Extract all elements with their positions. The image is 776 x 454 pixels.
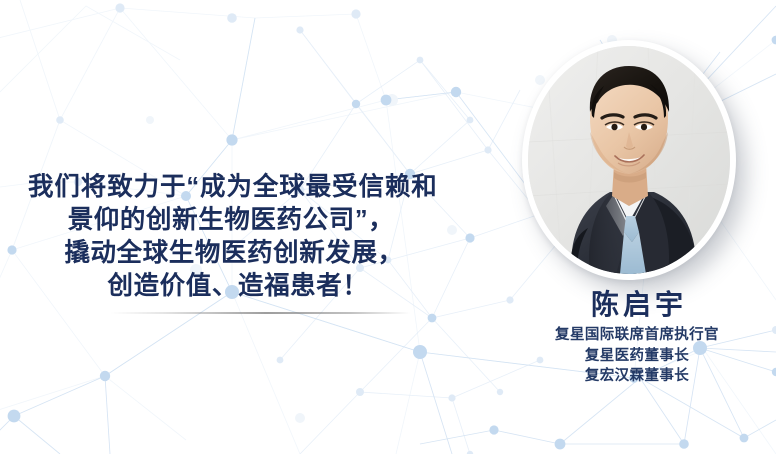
slide-canvas: .ln { stroke:#cfe0f2; stroke-width:0.85;… <box>0 0 776 454</box>
quote-block: 我们将致力于“成为全球最受信赖和 景仰的创新生物医药公司”， 撬动全球生物医药创… <box>0 171 482 303</box>
person-title-3: 复宏汉霖董事长 <box>498 366 776 387</box>
person-title-2: 复星医药董事长 <box>498 346 776 367</box>
section-divider <box>110 312 410 314</box>
quote-line-4: 创造价值、造福患者！ <box>0 270 482 303</box>
person-info: 陈启宇 复星国际联席首席执行官 复星医药董事长 复宏汉霖董事长 <box>498 288 776 387</box>
person-title-1: 复星国际联席首席执行官 <box>498 325 776 346</box>
quote-line-1: 我们将致力于“成为全球最受信赖和 <box>0 171 482 204</box>
quote-line-3: 撬动全球生物医药创新发展， <box>0 237 482 270</box>
portrait-photo <box>528 46 730 274</box>
person-titles: 复星国际联席首席执行官 复星医药董事长 复宏汉霖董事长 <box>498 325 776 387</box>
portrait <box>522 40 736 280</box>
quote-line-2: 景仰的创新生物医药公司”， <box>0 204 482 237</box>
person-name: 陈启宇 <box>498 288 776 322</box>
